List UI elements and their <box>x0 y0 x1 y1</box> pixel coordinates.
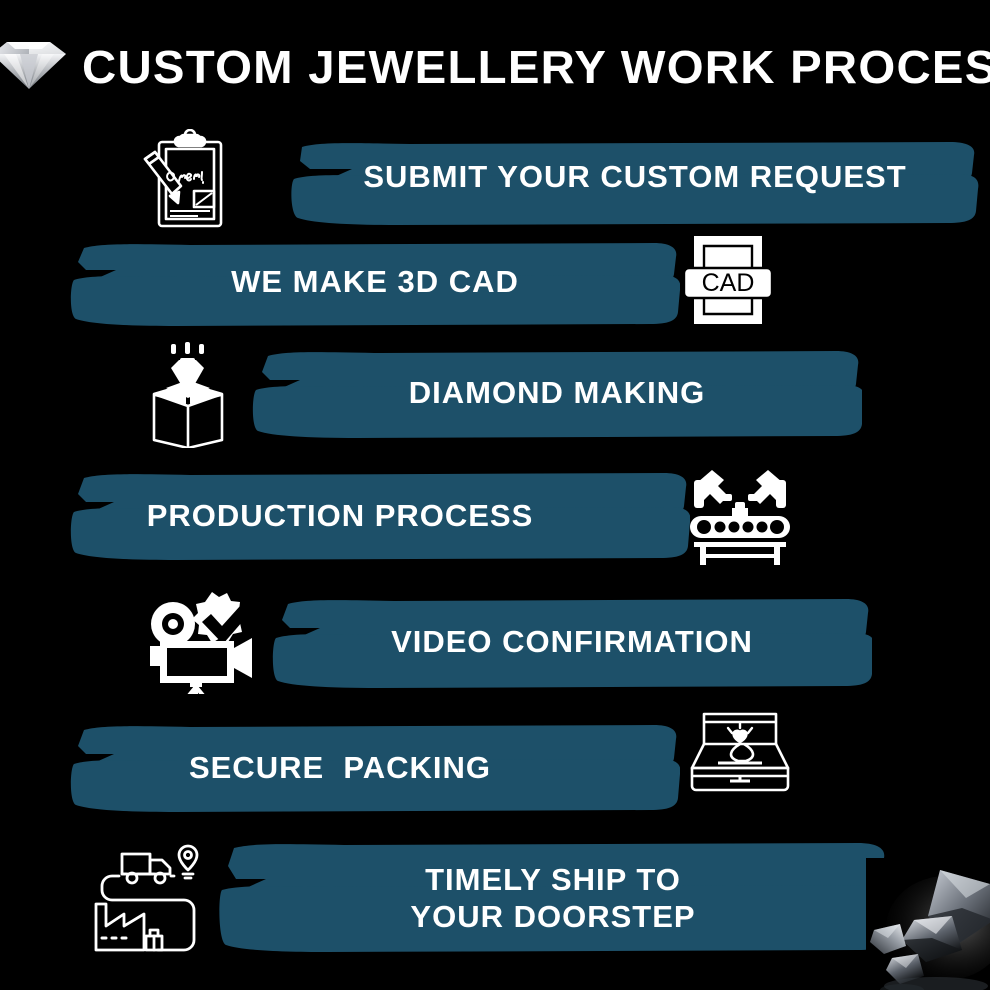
ring-box-icon <box>682 710 798 816</box>
video-camera-check-icon <box>140 586 264 694</box>
poster-header: CUSTOM JEWELLERY WORK PROCESS <box>0 14 990 100</box>
cad-printer-icon: CAD <box>678 232 778 330</box>
step-2-banner <box>70 232 680 332</box>
step-1-banner <box>290 125 980 230</box>
poster-canvas: CUSTOM JEWELLERY WORK PROCESS <box>0 0 990 990</box>
process-step-4: PRODUCTION PROCESS <box>0 462 990 570</box>
process-step-3: DIAMOND MAKING <box>0 338 990 448</box>
page-title: CUSTOM JEWELLERY WORK PROCESS <box>82 40 990 94</box>
factory-truck-route-icon <box>84 838 210 958</box>
process-step-1: SUBMIT YOUR CUSTOM REQUEST <box>0 125 990 230</box>
diamond-cluster-icon <box>866 858 990 990</box>
step-3-banner <box>252 338 862 448</box>
clipboard-order-icon <box>126 129 244 229</box>
step-7-banner <box>218 834 888 964</box>
process-step-6: SECURE PACKING <box>0 714 990 822</box>
process-step-5: VIDEO CONFIRMATION <box>0 586 990 698</box>
cad-printer-caption: CAD <box>702 269 755 297</box>
step-4-banner <box>70 462 690 570</box>
process-step-7: TIMELY SHIP TO YOUR DOORSTEP <box>0 834 990 964</box>
step-6-banner <box>70 714 680 822</box>
step-5-banner <box>272 586 872 698</box>
diamond-in-box-icon <box>128 340 248 448</box>
diamond-icon <box>0 32 68 90</box>
process-step-2: WE MAKE 3D CAD CAD <box>0 232 990 332</box>
conveyor-robot-arms-icon <box>684 466 796 566</box>
